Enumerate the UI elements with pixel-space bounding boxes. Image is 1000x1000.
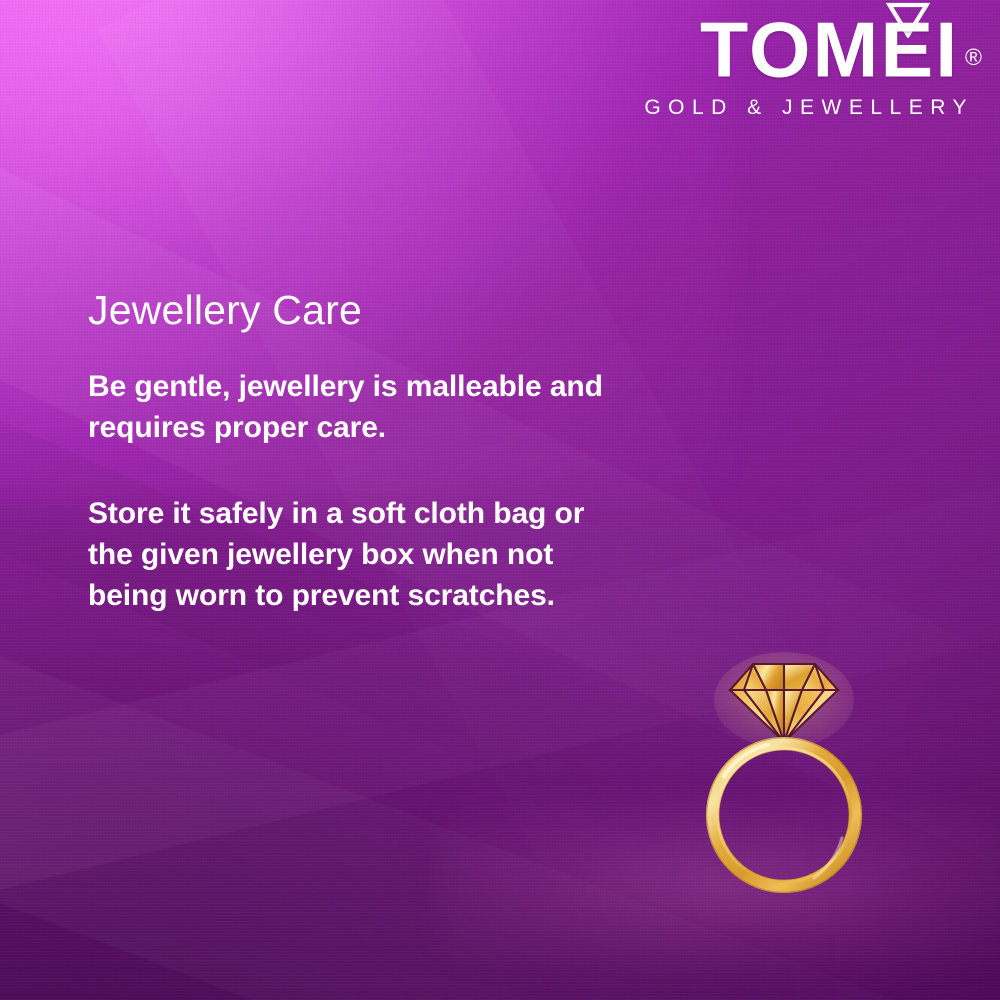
- page-title: Jewellery Care: [88, 288, 648, 334]
- registered-trademark-icon: ®: [965, 46, 982, 69]
- diamond-ring-illustration: [706, 652, 862, 892]
- logo-tagline: GOLD & JEWELLERY: [644, 97, 974, 118]
- care-copy-block: Jewellery Care Be gentle, jewellery is m…: [88, 288, 648, 617]
- gold-ring-band: [707, 738, 861, 892]
- care-paragraph-1: Be gentle, jewellery is malleable and re…: [88, 366, 633, 449]
- care-paragraph-2: Store it safely in a soft cloth bag or t…: [88, 493, 633, 617]
- jewellery-care-poster: TOMEI® GOLD & JEWELLERY Jewellery Care B…: [0, 0, 1000, 1000]
- logo-wordmark-text: TOMEI: [700, 12, 959, 90]
- logo-wordmark-row: TOMEI®: [644, 14, 976, 90]
- tomei-logo[interactable]: TOMEI® GOLD & JEWELLERY: [644, 14, 976, 118]
